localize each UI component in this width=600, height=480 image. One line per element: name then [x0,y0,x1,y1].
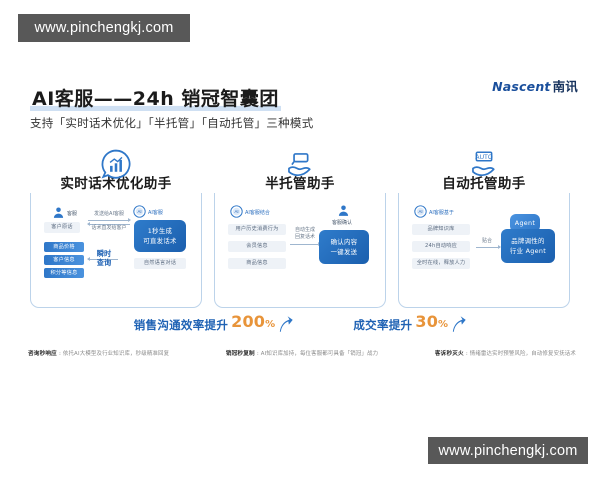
brand-name-en: Nascent [492,79,551,94]
stat-label: 成交率提升 [353,317,412,333]
card-body: AI AI客服结合 用户历史消费行为 会员信息 商品信息 自动生成 回复话术 [214,202,386,306]
ai-label: AI客服 [148,209,163,216]
ai-avatar-icon: AI [414,205,427,218]
footnote-title: 客诉秒灭火 [435,349,464,357]
footnote-text: AI知识库加持，每位客服都可具备「销冠」战力 [261,349,379,357]
trend-up-arrow-icon [277,315,293,333]
ai-avatar-icon: AI [230,205,243,218]
trend-up-arrow-icon [450,315,466,333]
card-realtime-script[interactable]: 实时话术优化助手 客服 客户原话 发送给AI客服 话术直发给客户 [30,152,202,310]
watermark-bottom: www.pinchengkj.com [428,437,588,464]
header-block: AI客服——24h 销冠智囊团 支持「实时话术优化」「半托管」「自动托管」三种模… [30,88,314,131]
flow-arrow-right [290,244,320,245]
ai-avatar-icon: AI [133,205,146,218]
stat-number: 200 [231,312,265,331]
flow-send-to-ai-label: 发送给AI客服 [87,211,131,218]
data-chip: 积分等信息 [44,268,84,278]
data-chip: 商品信息 [228,258,286,269]
query-line-2: 查询 [97,258,111,267]
svg-text:AI: AI [418,209,422,214]
data-chip: 商品价格 [44,242,84,252]
stat-unit: % [265,319,275,330]
footnote-item: 销冠秒复制 : AI知识库加持，每位客服都可具备「销冠」战力 [226,349,378,357]
agent-person-label: 客服 [67,210,77,217]
stat-value: 30% [415,314,448,333]
agent-person-label: 客服确认 [332,219,352,226]
data-chip: 会员信息 [228,241,286,252]
result-line-2: 一键发送 [331,247,358,257]
footnote-row: 咨询秒响应 : 依托AI大模型及行业知识库，秒级精准回复 销冠秒复制 : AI知… [28,349,576,357]
data-chip: 品牌知识库 [412,224,470,235]
stat-unit: % [438,319,448,330]
footnote-separator: : [466,351,468,357]
svg-text:AUTO: AUTO [475,154,493,161]
result-box: 确认内容 一键发送 [319,230,369,264]
card-semi-managed[interactable]: 半托管助手 AI AI客服结合 用户历史消费行为 会员信息 商品信息 自动生成 … [214,152,386,310]
auto-hand-icon: AUTO [467,148,501,182]
result-line-1: 品牌调性的 [511,236,544,246]
result-box: 品牌调性的 行业 Agent [501,229,555,263]
page-title: AI客服——24h 销冠智囊团 [30,88,281,111]
brand-name-cn: 南讯 [553,79,578,94]
flow-fit-label: 贴合 [476,238,498,245]
stat-label: 销售沟通效率提升 [134,317,228,333]
page-subtitle: 支持「实时话术优化」「半托管」「自动托管」三种模式 [30,115,314,131]
result-line-1: 确认内容 [331,237,358,247]
agent-person-icon [337,204,350,217]
footnote-title: 销冠秒复制 [226,349,255,357]
svg-text:AI: AI [234,209,238,214]
result-line-1: 1秒生成 [148,226,172,236]
stat-item: 销售沟通效率提升 200% [134,314,294,333]
slide-canvas: www.pinchengkj.com www.pinchengkj.com Na… [0,0,600,480]
ai-label: AI客服基于 [429,209,454,216]
flow-arrow-right [88,220,130,221]
footnote-separator: : [257,351,259,357]
flow-line-2: 回复话术 [295,234,315,240]
ai-label: AI客服结合 [245,209,270,216]
watermark-top: www.pinchengkj.com [18,14,190,42]
stat-number: 30 [415,312,438,331]
query-label: 瞬时 查询 [90,249,118,267]
result-line-2: 可直发话术 [143,236,176,246]
chat-chart-icon [99,148,133,182]
stats-row: 销售沟通效率提升 200% 成交率提升 30% [0,314,600,333]
data-chip: 24h自动响应 [412,241,470,252]
svg-text:AI: AI [137,209,141,214]
card-body: 客服 客户原话 发送给AI客服 话术直发给客户 AI AI客服 1秒生成 可直发… [30,202,202,306]
footnote-item: 咨询秒响应 : 依托AI大模型及行业知识库，秒级精准回复 [28,349,169,357]
customer-utterance-chip: 客户原话 [44,222,80,233]
result-box: 1秒生成 可直发话术 [134,220,186,252]
brand-logo: Nascent南讯 [492,76,578,95]
hand-chat-icon [283,148,317,182]
data-chip: 客户信息 [44,255,84,265]
footnote-item: 客诉秒灭火 : 情绪雷达实时预警风险，自动修复安抚话术 [435,349,576,357]
footnote-title: 咨询秒响应 [28,349,57,357]
flow-line-1: 自动生成 [295,227,315,233]
footnote-text: 依托AI大模型及行业知识库，秒级精准回复 [63,349,169,357]
footnote-text: 情绪雷达实时预警风险，自动修复安抚话术 [470,349,576,357]
flow-send-to-customer-label: 话术直发给客户 [85,225,133,232]
flow-arrow-right [476,247,500,248]
data-chip: 用户历史消费行为 [228,224,286,235]
flow-generate-label: 自动生成 回复话术 [290,227,320,241]
card-row: 实时话术优化助手 客服 客户原话 发送给AI客服 话术直发给客户 [30,152,570,310]
stat-value: 200% [231,314,275,333]
stat-item: 成交率提升 30% [353,314,466,333]
card-body: AI AI客服基于 品牌知识库 24h自动响应 全时在线，释放人力 贴合 Age… [398,202,570,306]
result-line-2: 行业 Agent [510,246,546,256]
data-chip: 全时在线，释放人力 [412,258,470,269]
footnote-separator: : [59,351,61,357]
agent-person-icon [52,206,65,219]
query-line-1: 瞬时 [97,249,111,258]
dialog-mode-chip: 自然语言对话 [134,258,186,269]
card-auto-managed[interactable]: AUTO 自动托管助手 AI AI客服基于 品牌知识库 24h自动响应 全时在线… [398,152,570,310]
